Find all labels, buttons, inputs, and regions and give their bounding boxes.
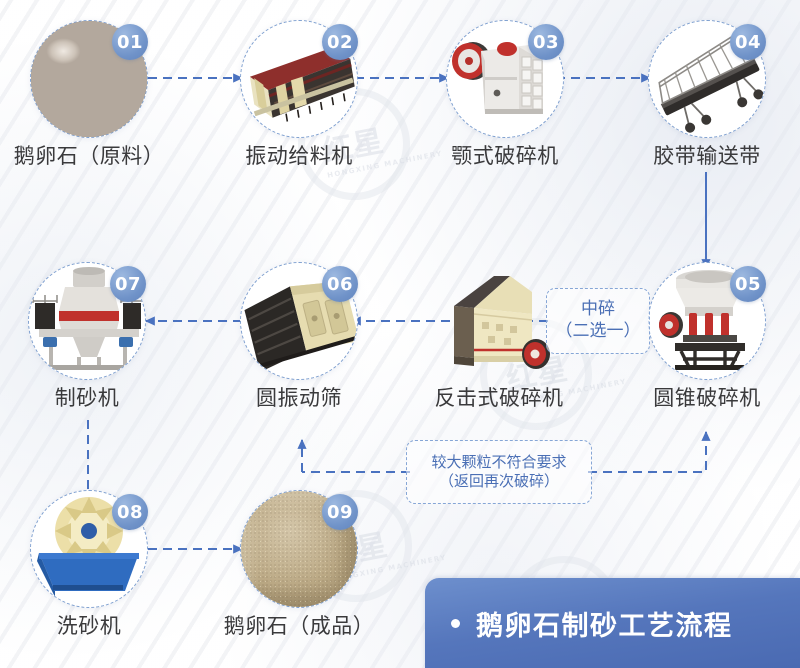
process-step-01[interactable]: 01 鹅卵石（原料） xyxy=(30,20,148,138)
process-step-03[interactable]: 03 颚式破碎机 xyxy=(446,20,564,138)
impact-crusher-icon xyxy=(440,262,558,380)
callout-oversize-return: 较大颗粒不符合要求 （返回再次破碎） xyxy=(406,440,592,504)
step-06-label: 圆振动筛 xyxy=(184,382,414,412)
banner-bullet-icon xyxy=(451,619,460,628)
step-08-label: 洗砂机 xyxy=(0,610,204,640)
alternate-equipment-impact-crusher[interactable]: 反击式破碎机 xyxy=(440,262,558,380)
step-05-badge: 05 xyxy=(730,266,766,302)
step-09-badge: 09 xyxy=(322,494,358,530)
process-step-08[interactable]: 08 洗砂机 xyxy=(30,490,148,608)
step-09-label: 鹅卵石（成品） xyxy=(184,610,414,640)
step-03-badge: 03 xyxy=(528,24,564,60)
step-07-label: 制砂机 xyxy=(0,382,202,412)
step-04-badge: 04 xyxy=(730,24,766,60)
step-02-label: 振动给料机 xyxy=(184,140,414,170)
callout-medium-line-1: 中碎 xyxy=(581,299,615,321)
step-02-badge: 02 xyxy=(322,24,358,60)
process-step-06[interactable]: 06 圆振动筛 xyxy=(240,262,358,380)
process-step-07[interactable]: 07 制砂机 xyxy=(28,262,146,380)
step-03-label: 颚式破碎机 xyxy=(390,140,620,170)
step-06-badge: 06 xyxy=(322,266,358,302)
callout-return-line-1: 较大颗粒不符合要求 xyxy=(431,453,566,472)
process-title-banner: 鹅卵石制砂工艺流程 xyxy=(425,578,800,668)
process-step-02[interactable]: 02 振动给料机 xyxy=(240,20,358,138)
step-05-label: 圆锥破碎机 xyxy=(592,382,800,412)
step-08-badge: 08 xyxy=(112,494,148,530)
process-step-09[interactable]: 09 鹅卵石（成品） xyxy=(240,490,358,608)
callout-return-line-2: （返回再次破碎） xyxy=(439,472,559,491)
step-01-label: 鹅卵石（原料） xyxy=(0,140,204,170)
alternate-equipment-label: 反击式破碎机 xyxy=(384,382,614,412)
step-01-badge: 01 xyxy=(112,24,148,60)
process-step-05[interactable]: 05 圆锥破碎机 xyxy=(648,262,766,380)
process-step-04[interactable]: 04 胶带输送带 xyxy=(648,20,766,138)
step-07-badge: 07 xyxy=(110,266,146,302)
banner-title: 鹅卵石制砂工艺流程 xyxy=(476,604,733,643)
callout-medium-crushing-choice: 中碎 （二选一） xyxy=(546,288,650,354)
step-04-label: 胶带输送带 xyxy=(592,140,800,170)
wire-return-loop-right xyxy=(588,432,706,472)
callout-medium-line-2: （二选一） xyxy=(556,321,641,343)
